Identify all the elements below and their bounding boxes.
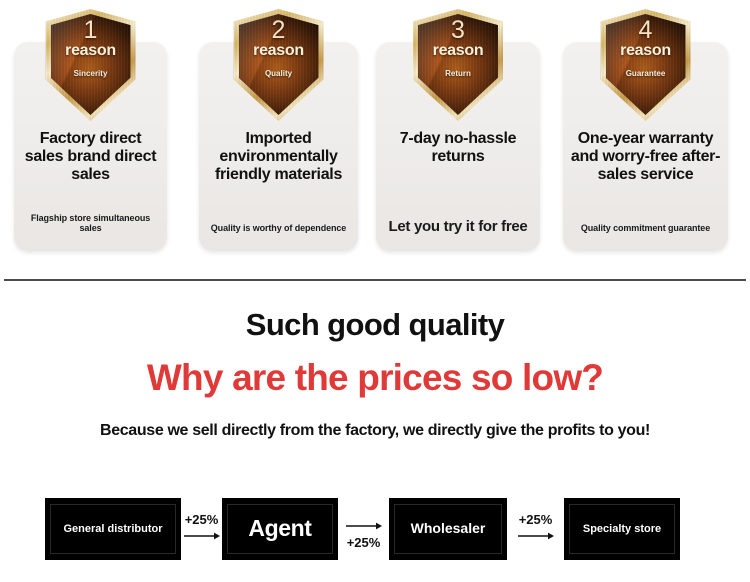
reason-word: reason xyxy=(253,43,304,59)
headline-explanation: Because we sell directly from the factor… xyxy=(0,423,750,439)
flow-node-wholesaler[interactable]: Wholesaler xyxy=(389,498,507,560)
reason-word: reason xyxy=(65,43,116,59)
reason-title: Imported environmentally friendly materi… xyxy=(204,130,353,184)
reason-number: 1 xyxy=(84,18,98,43)
headline-primary: Such good quality xyxy=(0,309,750,340)
reason-number: 4 xyxy=(639,18,653,43)
flow-node-general-distributor[interactable]: General distributor xyxy=(45,498,181,560)
reason-caption: Flagship store simultaneous sales xyxy=(19,213,162,233)
reason-card-3[interactable]: 3 reason Return 7-day no-hassle returns … xyxy=(376,42,540,251)
flow-connector-2: +25% xyxy=(338,521,389,549)
reason-word: reason xyxy=(433,43,484,59)
reason-card-1[interactable]: 1 reason Sincerity Factory direct sales … xyxy=(14,42,167,251)
flow-markup-label: +25% xyxy=(185,513,219,526)
reasons-section: 1 reason Sincerity Factory direct sales … xyxy=(0,0,750,279)
supply-chain-flow: General distributor +25% Agent +25% Whol… xyxy=(0,473,750,582)
reason-card-2[interactable]: 2 reason Quality Imported environmentall… xyxy=(199,42,358,251)
flow-node-label: Agent xyxy=(248,516,311,542)
reason-subtitle: Quality xyxy=(265,69,292,78)
reason-subtitle: Return xyxy=(445,69,471,78)
reason-number: 2 xyxy=(272,18,286,43)
reason-caption: Quality commitment guarantee xyxy=(581,223,710,233)
reason-title: One-year warranty and worry-free after-s… xyxy=(568,130,723,184)
shield-badge-4: 4 reason Guarantee xyxy=(601,9,691,121)
shield-badge-1: 1 reason Sincerity xyxy=(46,9,136,121)
reason-caption: Quality is worthy of dependence xyxy=(211,223,346,233)
flow-connector-3: +25% xyxy=(507,513,564,541)
reason-card-4[interactable]: 4 reason Guarantee One-year warranty and… xyxy=(563,42,728,251)
arrow-right-icon xyxy=(517,531,555,541)
flow-connector-1: +25% xyxy=(181,513,222,541)
reason-title: Factory direct sales brand direct sales xyxy=(19,130,162,184)
flow-markup-label: +25% xyxy=(519,513,553,526)
reason-subtitle: Sincerity xyxy=(74,69,108,78)
reason-number: 3 xyxy=(451,18,465,43)
shield-badge-2: 2 reason Quality xyxy=(234,9,324,121)
flow-node-specialty-store[interactable]: Specialty store xyxy=(564,498,680,560)
headline-question: Why are the prices so low? xyxy=(0,359,750,396)
reason-word: reason xyxy=(620,43,671,59)
flow-markup-label: +25% xyxy=(347,536,381,549)
reason-caption: Let you try it for free xyxy=(389,218,528,235)
flow-node-label: General distributor xyxy=(63,523,162,535)
reason-title: 7-day no-hassle returns xyxy=(381,130,535,166)
flow-node-label: Wholesaler xyxy=(411,521,486,537)
arrow-right-icon xyxy=(345,521,383,531)
headline-section: Such good quality Why are the prices so … xyxy=(0,281,750,473)
arrow-right-icon xyxy=(183,531,221,541)
reason-subtitle: Guarantee xyxy=(626,69,666,78)
shield-badge-3: 3 reason Return xyxy=(413,9,503,121)
flow-node-agent[interactable]: Agent xyxy=(222,498,338,560)
flow-node-label: Specialty store xyxy=(583,523,661,535)
